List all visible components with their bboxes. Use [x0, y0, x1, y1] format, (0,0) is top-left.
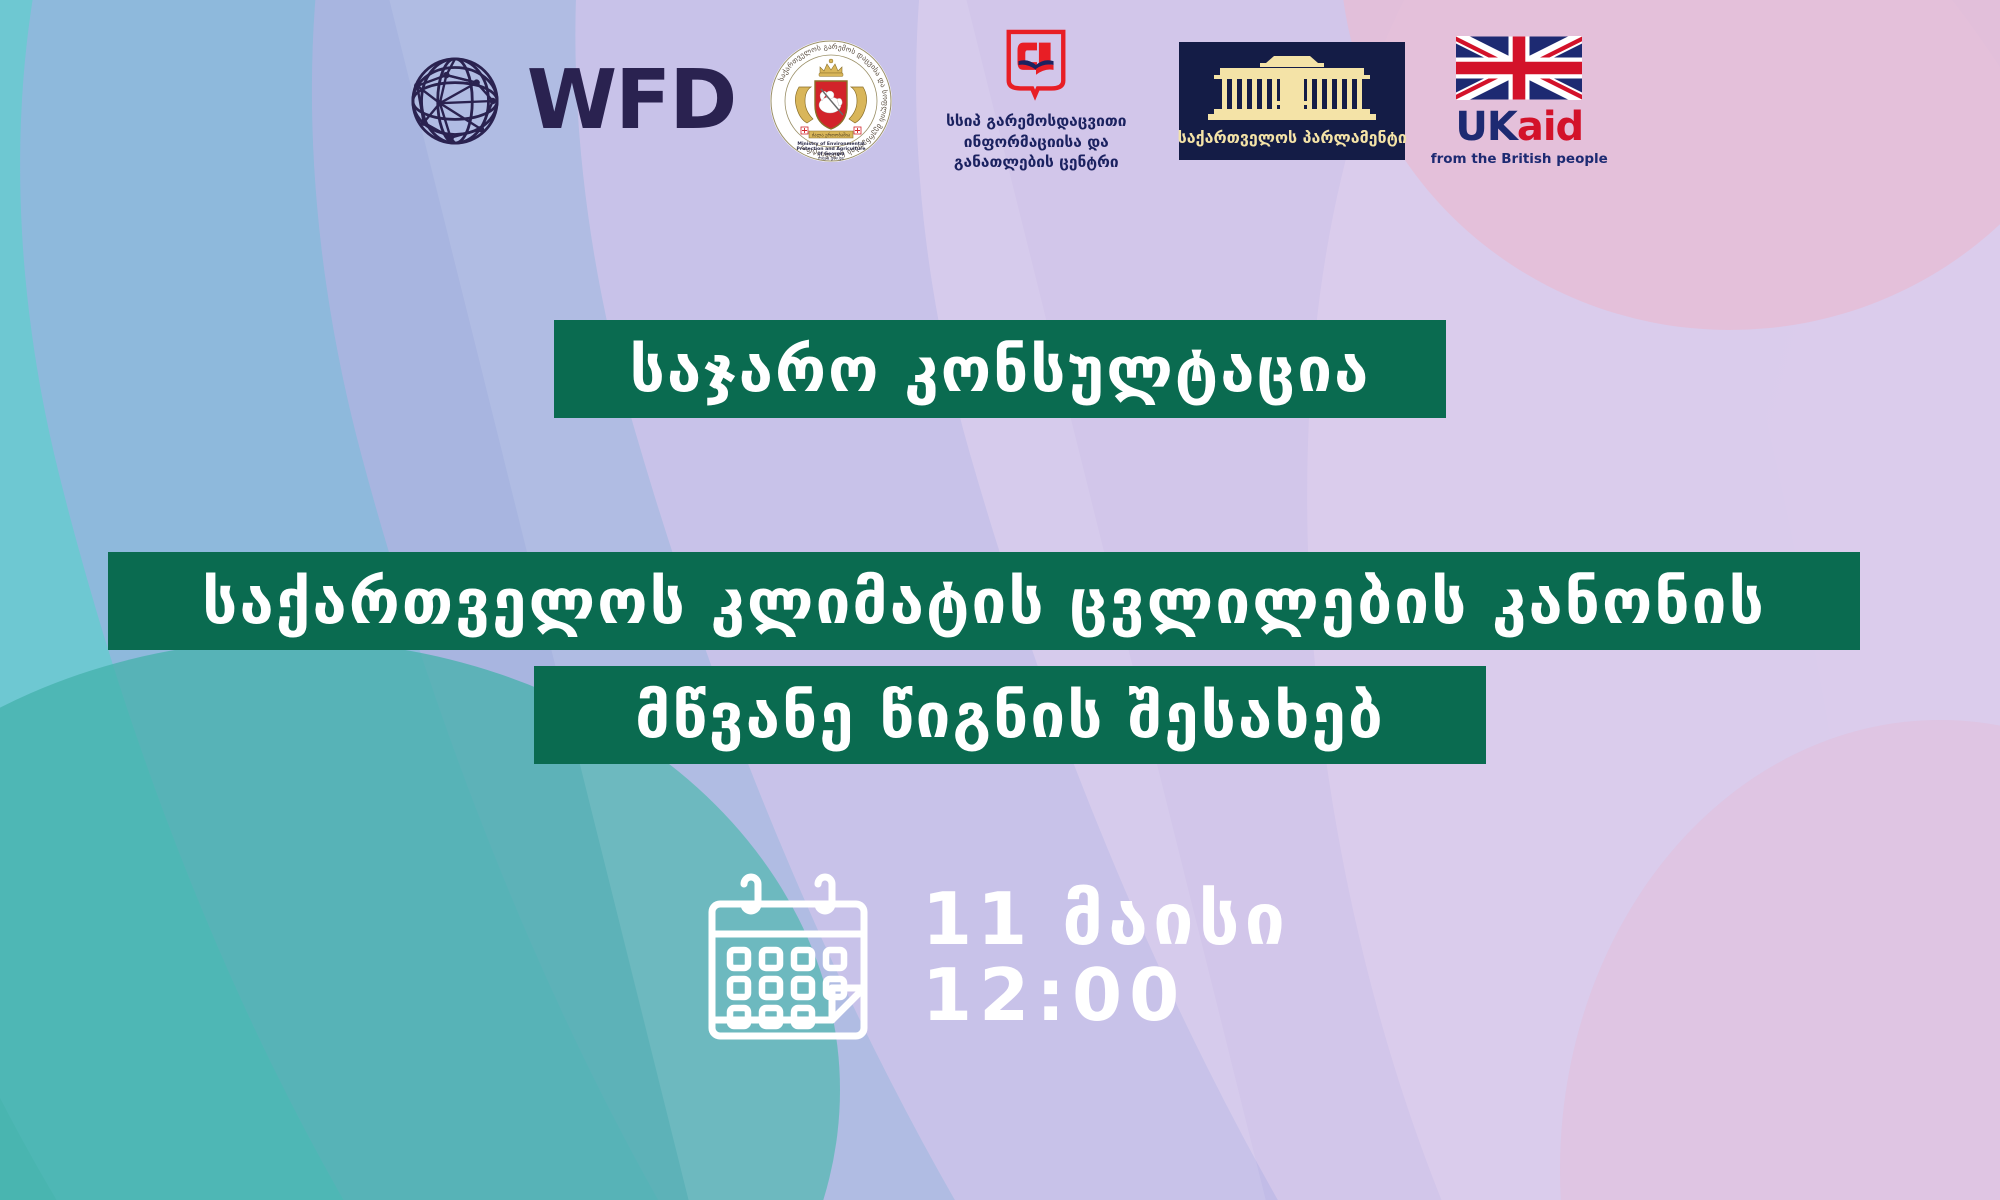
- eiec-caption: სსიპ გარემოსდაცვითი ინფორმაციისა და განა…: [946, 111, 1126, 174]
- eiec-line-1: სსიპ გარემოსდაცვითი: [946, 111, 1126, 132]
- parliament-caption: საქართველოს პარლამენტი: [1178, 128, 1407, 147]
- open-book-shield-icon: [1005, 29, 1067, 103]
- svg-text:mepa.gov.ge: mepa.gov.ge: [818, 156, 844, 161]
- subtitle-banner-line-1: საქართველოს კლიმატის ცვლილების კანონის: [108, 552, 1860, 650]
- svg-text:ძალა ერთობაშია: ძალა ერთობაშია: [812, 132, 851, 139]
- partner-logo-row: WFD საქართველოს გარემოს დაცვისა და სოფლი…: [0, 28, 2000, 174]
- ministry-seal-logo: საქართველოს გარემოს დაცვისა და სოფლის მე…: [769, 39, 893, 163]
- page-title-banner: საჯარო კონსულტაცია: [554, 320, 1446, 418]
- subtitle-banner-line-2: მწვანე წიგნის შესახებ: [534, 666, 1486, 764]
- eiec-line-2: ინფორმაციისა და: [946, 132, 1126, 153]
- event-datetime-text: 11 მაისი 12:00: [922, 881, 1290, 1034]
- environmental-info-education-center-logo: სსიპ გარემოსდაცვითი ინფორმაციისა და განა…: [927, 29, 1145, 174]
- ukaid-word-uk: UK: [1455, 104, 1516, 150]
- eiec-line-3: განათლების ცენტრი: [946, 152, 1126, 173]
- ukaid-logo: UKaid from the British people: [1439, 36, 1599, 167]
- union-jack-flag-icon: [1456, 36, 1582, 100]
- georgia-coat-of-arms-icon: საქართველოს გარემოს დაცვისა და სოფლის მე…: [769, 39, 893, 163]
- background-blob-pink-bottom: [1560, 720, 2000, 1200]
- event-date: 11 მაისი: [922, 881, 1290, 957]
- ukaid-tagline: from the British people: [1431, 151, 1608, 167]
- poster-canvas: WFD საქართველოს გარემოს დაცვისა და სოფლი…: [0, 0, 2000, 1200]
- ukaid-wordmark: UKaid: [1455, 107, 1583, 147]
- parliament-of-georgia-logo: საქართველოს პარლამენტი: [1179, 42, 1405, 160]
- event-datetime-block: 11 მაისი 12:00: [700, 862, 1290, 1052]
- calendar-icon: [700, 862, 876, 1052]
- parliament-building-icon: [1202, 54, 1382, 126]
- wfd-wordmark: WFD: [527, 60, 736, 142]
- globe-wireframe-icon: [401, 47, 509, 155]
- event-time: 12:00: [922, 957, 1290, 1033]
- ukaid-word-aid: aid: [1517, 104, 1583, 150]
- wfd-logo: WFD: [401, 47, 736, 155]
